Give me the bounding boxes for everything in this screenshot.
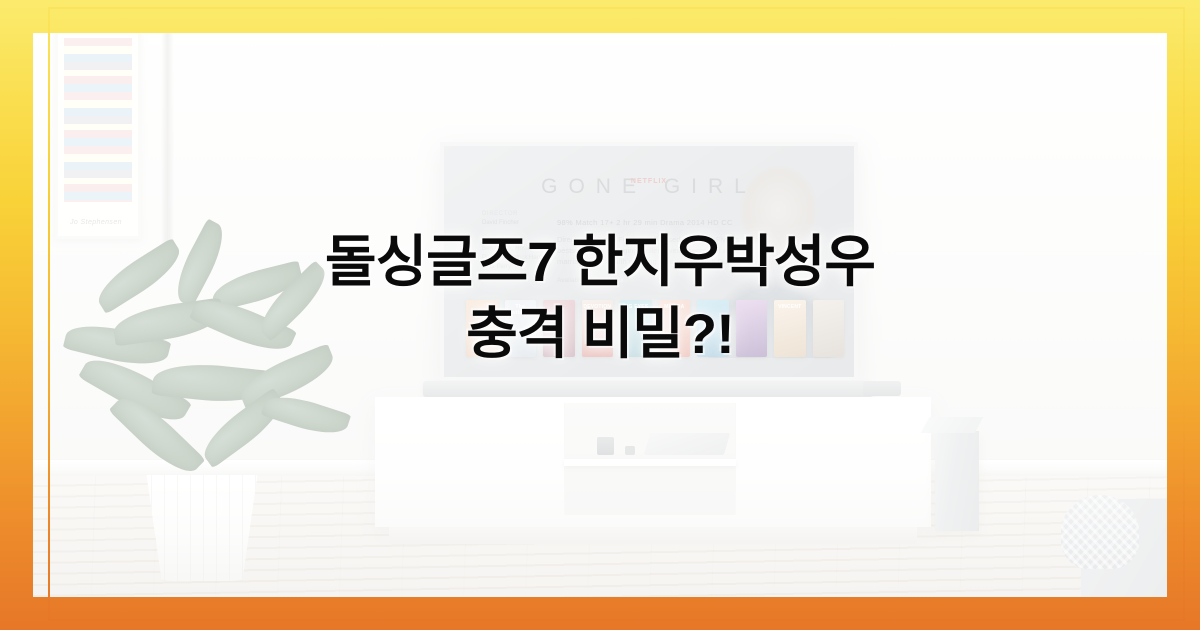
wall-seam — [161, 33, 174, 253]
tv-poster-caption: DEVOTION — [582, 304, 614, 310]
starring-heading: STARRING — [482, 236, 548, 245]
potted-plant — [61, 243, 351, 573]
console-device-flat — [644, 433, 730, 455]
floor-speaker — [935, 431, 979, 531]
netflix-logo: NETFLIX — [631, 178, 667, 185]
console-shelf-divider — [564, 459, 736, 466]
tv-poster-carousel[interactable]: The InvitationDEVOTIONBIG EYESMI VIDAVIN… — [466, 300, 844, 357]
tv-poster-caption: The Invitation — [505, 304, 537, 316]
tv-movie-meta: 98% Match 17+ 2 hr 29 min Drama 2014 HD … — [557, 218, 733, 227]
starring-names: Ben Affleck, Rosamund Pike, Neil Patrick… — [482, 245, 548, 272]
tv-poster-thumbnail[interactable]: DEVOTION — [582, 300, 614, 357]
wall-art-signature: Jo Stephensen — [70, 219, 122, 226]
media-console — [375, 397, 931, 527]
tv-poster-caption: MI VIDA — [659, 304, 691, 310]
knitted-pouf — [1061, 495, 1139, 569]
living-room-scene: Jo Stephensen — [33, 33, 1167, 597]
plant-leaf — [90, 238, 187, 314]
director-heading: DIRECTOR — [482, 210, 548, 219]
background-photo: Jo Stephensen — [33, 33, 1167, 597]
available-label: Available On — [557, 277, 594, 284]
tv-availability: Available OnNetflix — [557, 276, 631, 285]
console-device-tiny — [625, 446, 635, 455]
tv-poster-thumbnail[interactable]: VINCENT — [774, 300, 806, 357]
wall-art-stripes — [64, 38, 132, 202]
tv-movie-credits: DIRECTOR David Fincher STARRING Ben Affl… — [482, 210, 548, 272]
tv-poster-caption: BIG EYES — [620, 304, 652, 310]
tv-poster-thumbnail[interactable] — [736, 300, 768, 357]
tv-poster-thumbnail[interactable]: The Invitation — [505, 300, 537, 357]
tv-poster-thumbnail[interactable] — [813, 300, 845, 357]
available-service-pill: Netflix — [599, 276, 631, 285]
director-name: David Fincher — [482, 219, 548, 228]
tv-poster-thumbnail[interactable]: BIG EYES — [620, 300, 652, 357]
tv-poster-thumbnail[interactable]: MI VIDA — [659, 300, 691, 357]
tv-poster-thumbnail[interactable] — [466, 300, 498, 357]
console-plinth — [389, 527, 917, 544]
soundbar — [423, 381, 873, 397]
tv-poster-caption: VINCENT — [774, 304, 806, 310]
tv-screen: GONE GIRL NETFLIX 98% Match 17+ 2 hr 29 … — [444, 146, 854, 377]
plant-pot — [139, 475, 265, 581]
remote-control — [863, 381, 901, 396]
wall-art-frame: Jo Stephensen — [55, 33, 141, 239]
tv-movie-description: Directed by David Fincher and based on G… — [557, 234, 775, 267]
console-device-small — [597, 437, 614, 455]
tv-poster-thumbnail[interactable] — [697, 300, 729, 357]
television: GONE GIRL NETFLIX 98% Match 17+ 2 hr 29 … — [440, 142, 858, 381]
poster-card: Jo Stephensen — [0, 0, 1200, 630]
tv-poster-thumbnail[interactable] — [543, 300, 575, 357]
